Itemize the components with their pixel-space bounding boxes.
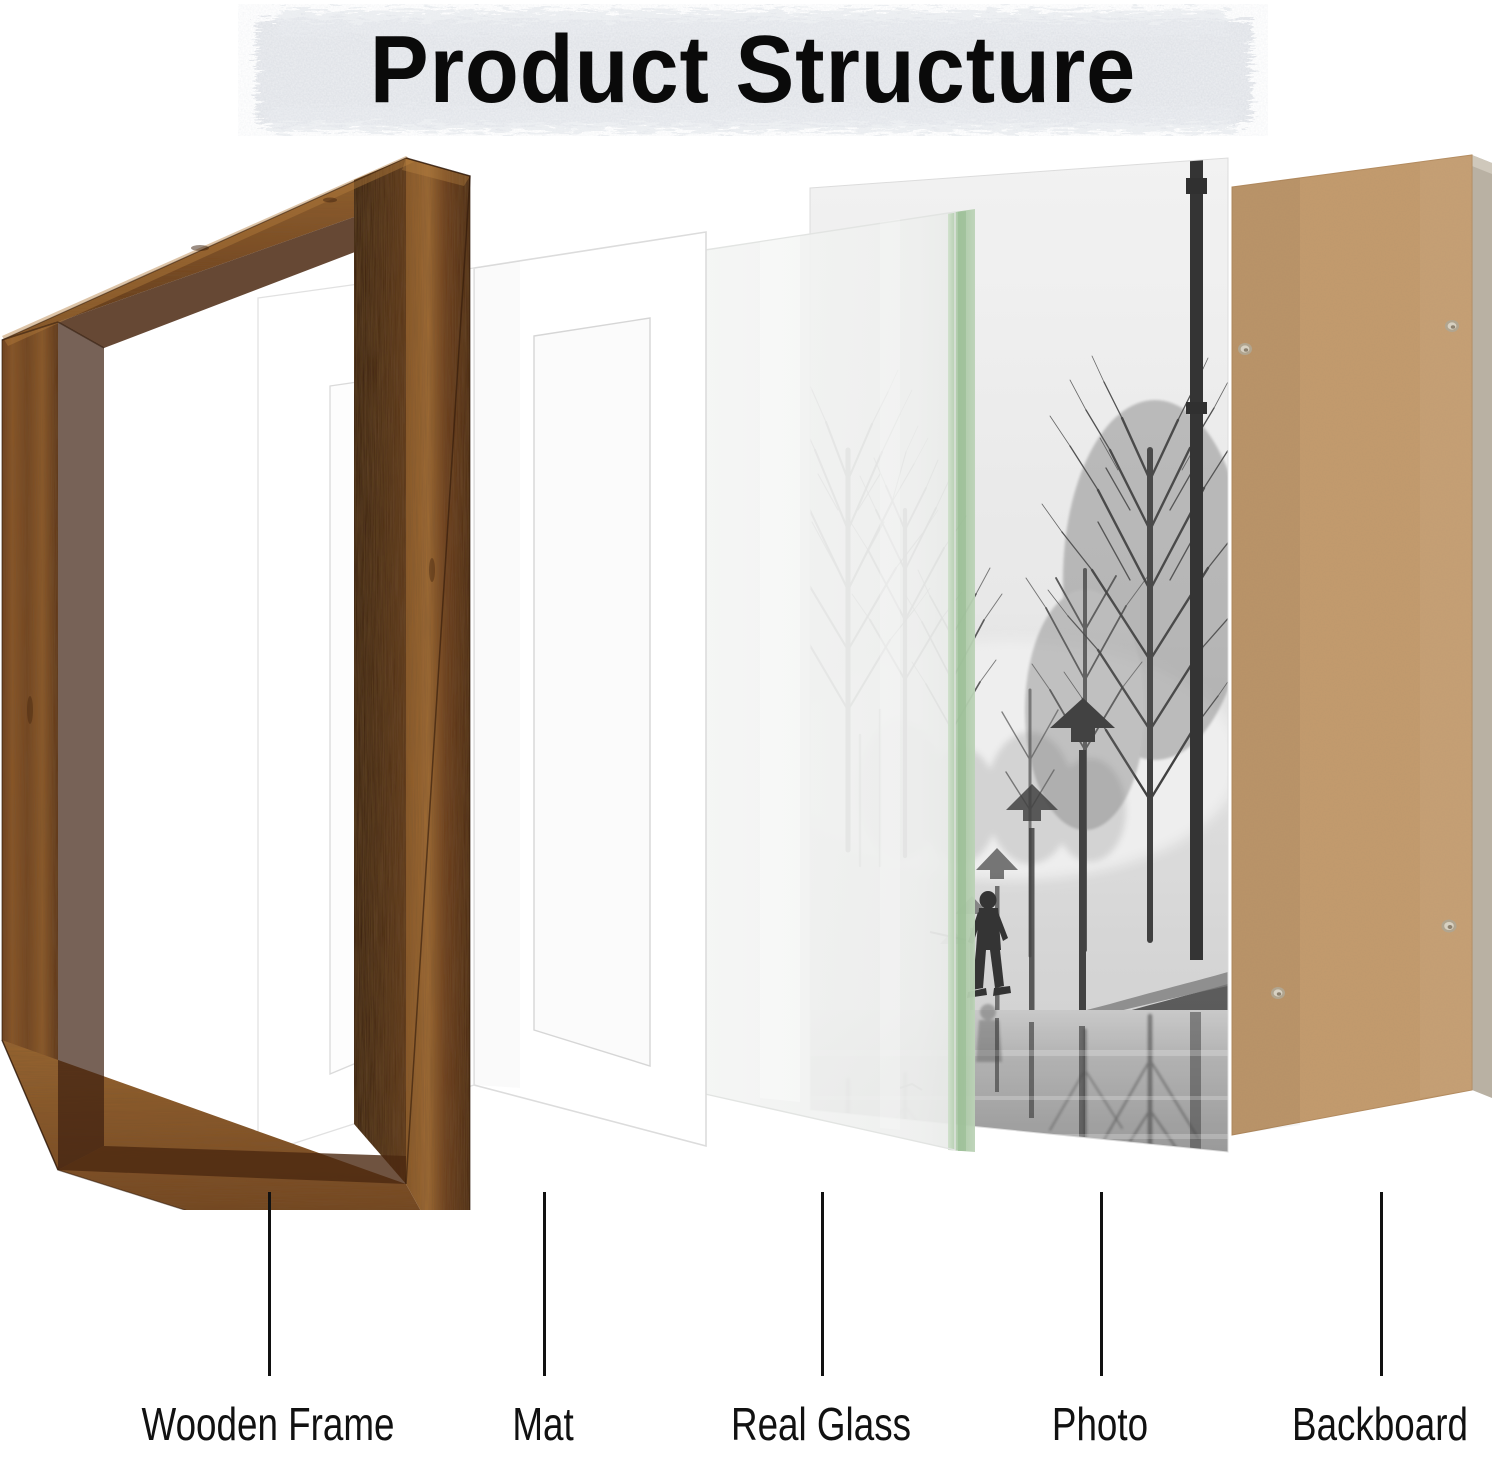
leader-line-real-glass [821,1192,824,1376]
leader-line-wooden-frame [268,1192,271,1376]
leader-line-mat [543,1192,546,1376]
leader-line-photo [1100,1192,1103,1376]
label-real-glass: Real Glass [685,1396,957,1452]
backboard-layer [1232,155,1492,1135]
title-banner: Product Structure [238,4,1268,136]
mat-window-opening [534,318,650,1066]
mat-layer [474,232,706,1146]
label-wooden-frame: Wooden Frame [108,1396,428,1452]
exploded-layers-illustration [0,150,1500,1210]
label-mat: Mat [463,1396,623,1452]
glass-face [705,212,955,1150]
frame-left-stile [2,322,58,1170]
page-title: Product Structure [279,4,1227,136]
wooden-frame-layer [2,156,470,1210]
label-photo: Photo [988,1396,1212,1452]
backboard-edge [1472,155,1492,1098]
label-backboard: Backboard [1236,1396,1500,1452]
frame-right-stile-side [354,158,406,1184]
leader-line-backboard [1380,1192,1383,1376]
product-structure-diagram-page: Product Structure [0,0,1500,1459]
real-glass-layer [705,209,975,1152]
